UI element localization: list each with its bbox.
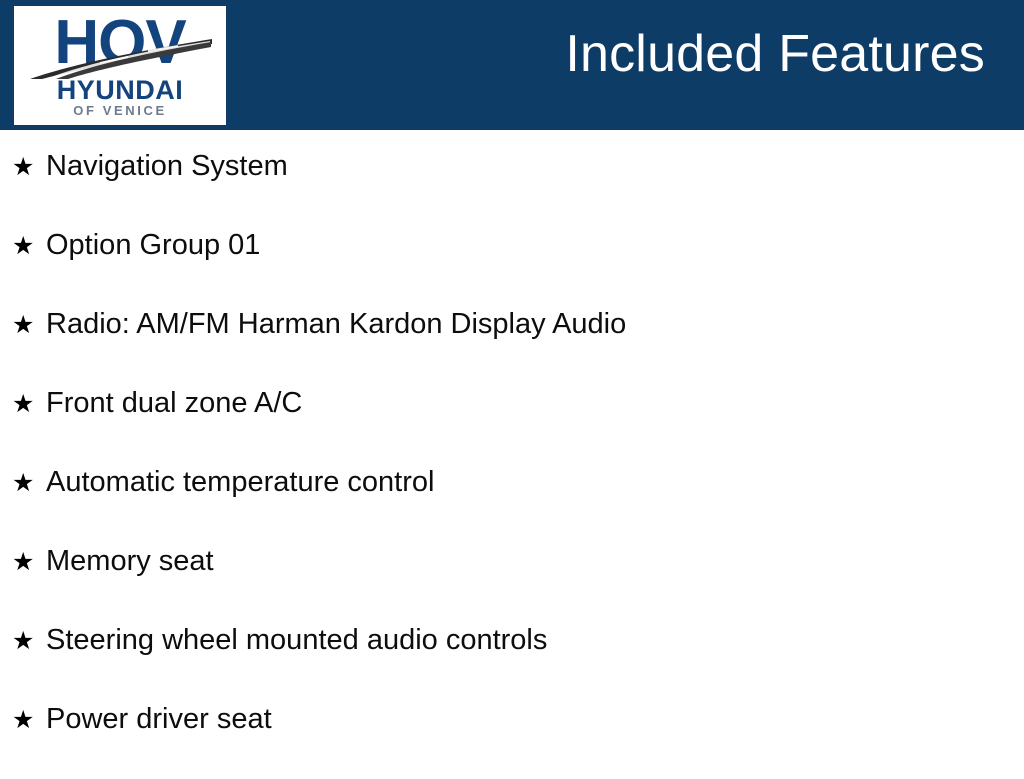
feature-label: Memory seat	[46, 542, 214, 580]
list-item: ★ Steering wheel mounted audio controls	[0, 621, 1024, 700]
feature-label: Automatic temperature control	[46, 463, 434, 501]
feature-label: Navigation System	[46, 147, 288, 185]
header-banner: HOV HYUNDAI OF VENICE Included Features	[0, 0, 1024, 130]
slide-root: HOV HYUNDAI OF VENICE Included Features …	[0, 0, 1024, 768]
dealer-logo: HOV HYUNDAI OF VENICE	[14, 6, 226, 125]
logo-inner: HOV HYUNDAI OF VENICE	[14, 6, 226, 125]
star-bullet-icon: ★	[12, 622, 46, 660]
list-item: ★ Front dual zone A/C	[0, 384, 1024, 463]
list-item: ★ Automatic temperature control	[0, 463, 1024, 542]
logo-hov-text: HOV	[14, 10, 226, 76]
feature-label: Front dual zone A/C	[46, 384, 302, 422]
star-bullet-icon: ★	[12, 543, 46, 581]
logo-brand-text: HYUNDAI	[14, 76, 226, 104]
list-item: ★ Radio: AM/FM Harman Kardon Display Aud…	[0, 305, 1024, 384]
included-features-list: ★ Navigation System ★ Option Group 01 ★ …	[0, 147, 1024, 779]
list-item: ★ Navigation System	[0, 147, 1024, 226]
star-bullet-icon: ★	[12, 385, 46, 423]
star-bullet-icon: ★	[12, 701, 46, 739]
logo-mark-wrap: HOV	[14, 10, 226, 76]
star-bullet-icon: ★	[12, 306, 46, 344]
feature-label: Option Group 01	[46, 226, 260, 264]
list-item: ★ Option Group 01	[0, 226, 1024, 305]
list-item: ★ Power driver seat	[0, 700, 1024, 779]
feature-label: Power driver seat	[46, 700, 272, 738]
star-bullet-icon: ★	[12, 227, 46, 265]
feature-label: Radio: AM/FM Harman Kardon Display Audio	[46, 305, 626, 343]
star-bullet-icon: ★	[12, 464, 46, 502]
page-title: Included Features	[565, 28, 985, 80]
logo-locality-text: OF VENICE	[14, 104, 226, 118]
list-item: ★ Memory seat	[0, 542, 1024, 621]
star-bullet-icon: ★	[12, 148, 46, 186]
feature-label: Steering wheel mounted audio controls	[46, 621, 547, 659]
